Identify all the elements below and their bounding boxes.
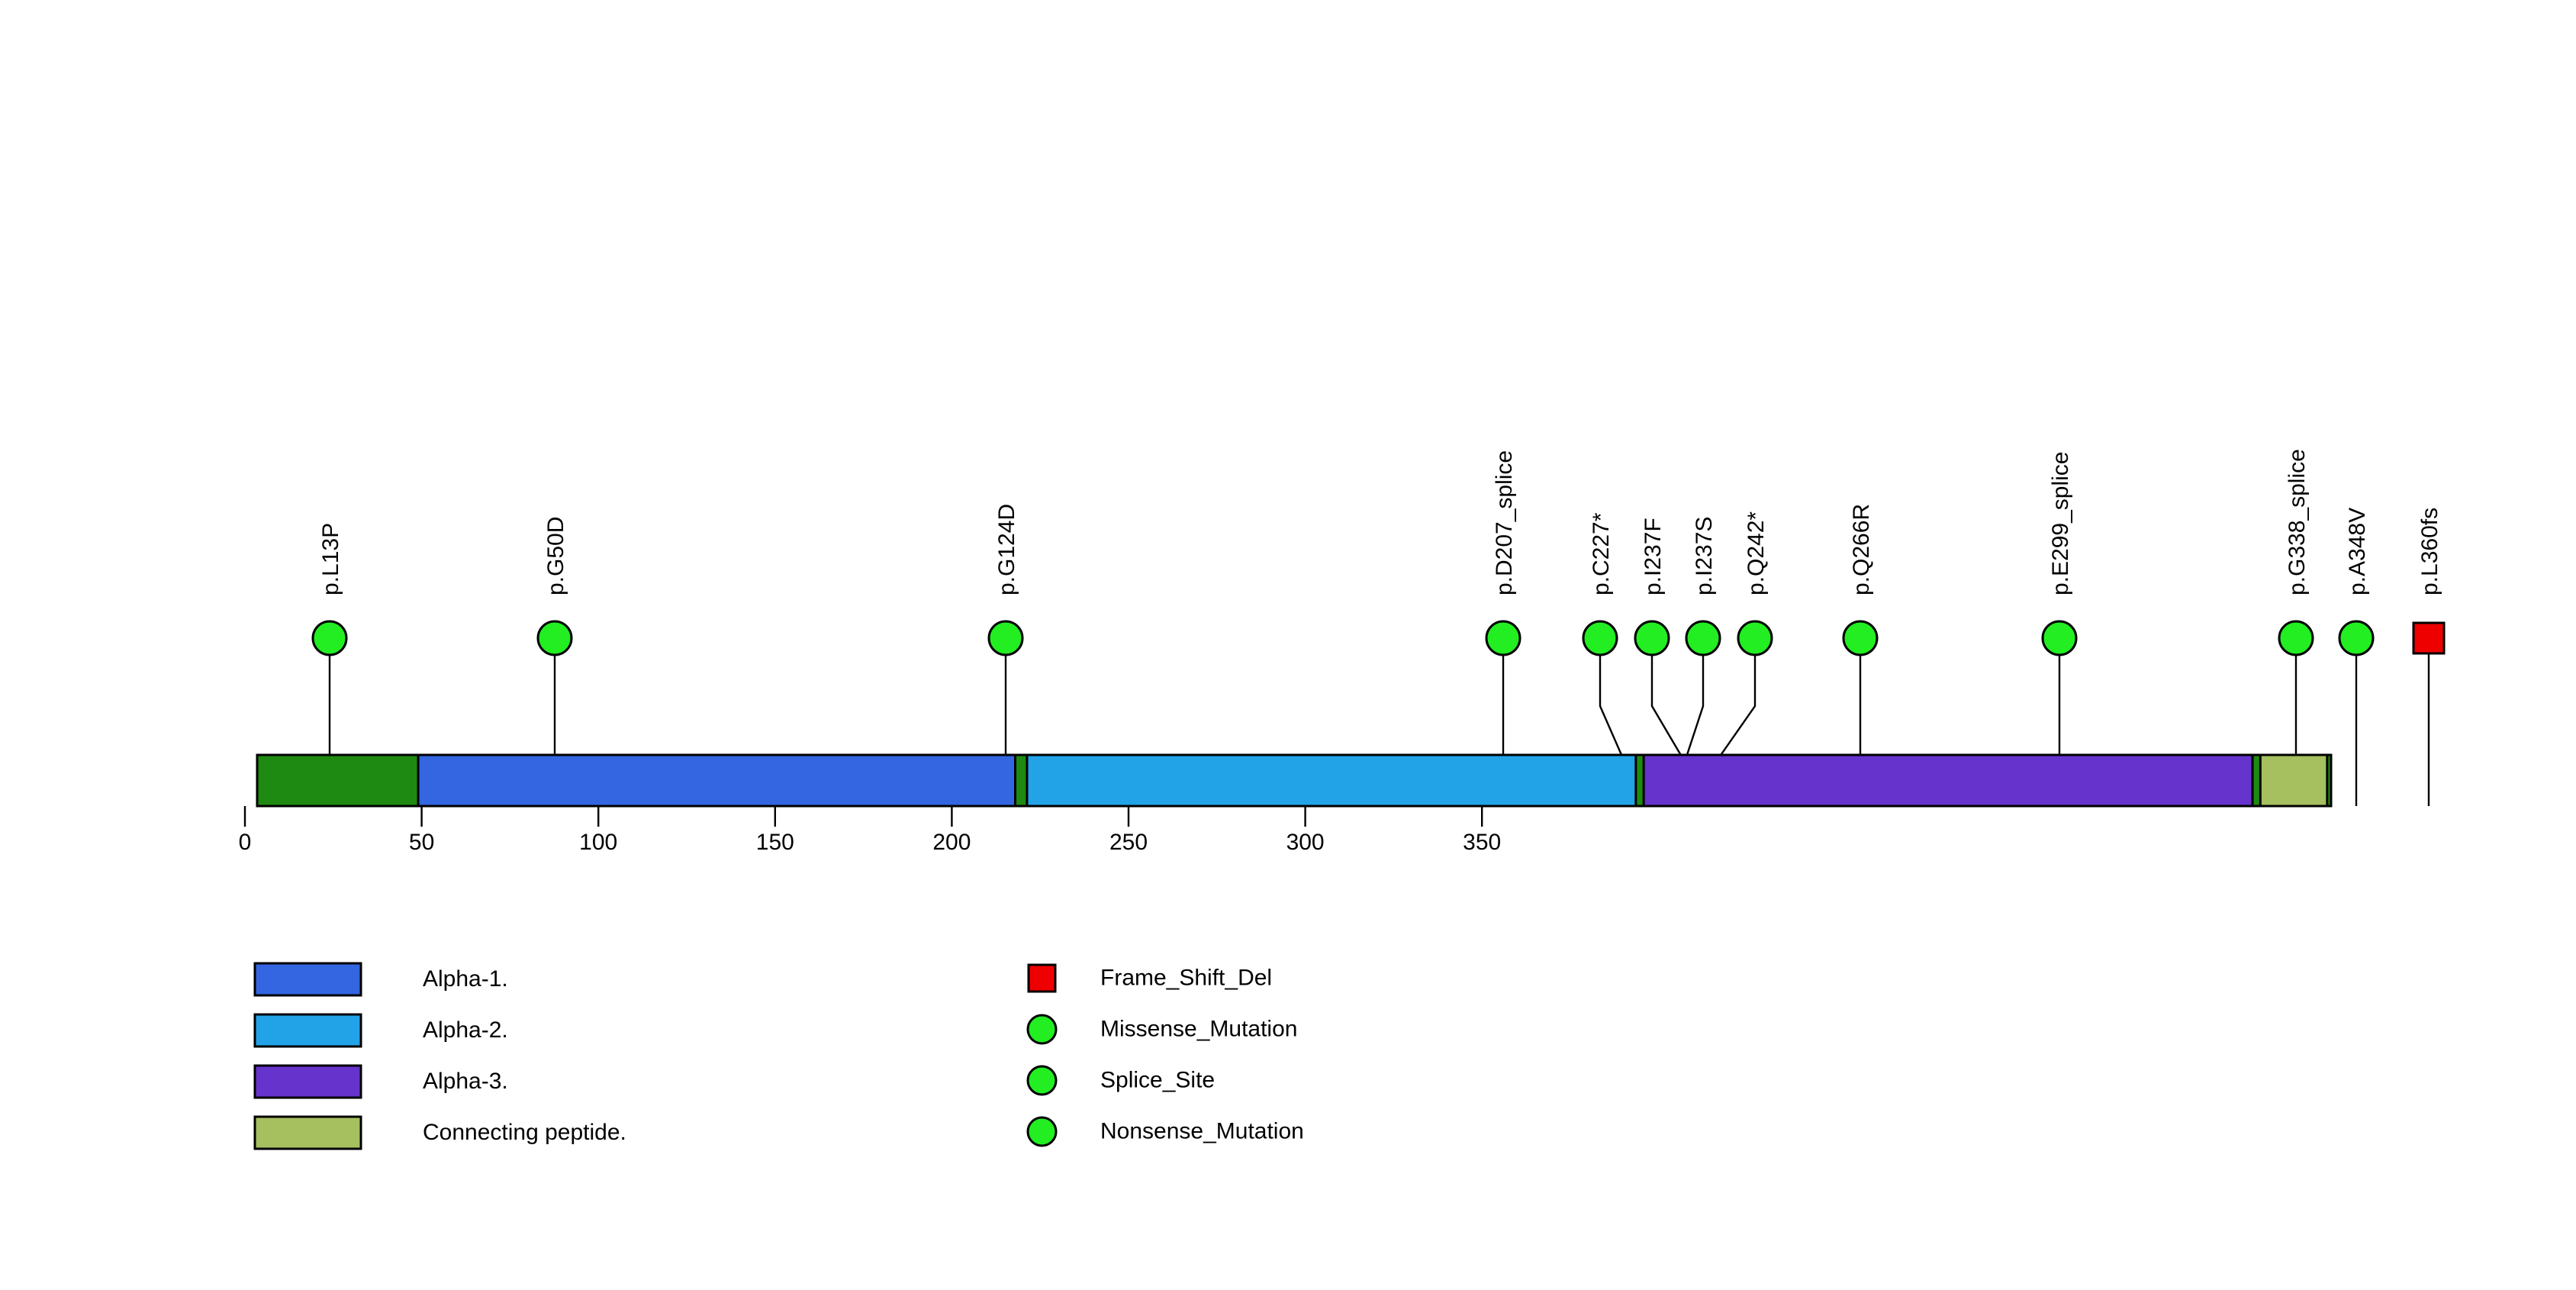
mutation-marker-pQ266R[interactable]: p.Q266R — Missense_Mutation <box>1843 621 1877 655</box>
axis-tick-label-300: 300 <box>1286 830 1325 855</box>
legend-domain-swatch-2[interactable] <box>255 1066 361 1098</box>
mutation-label-pG124D: p.G124D <box>994 504 1019 595</box>
mutation-marker-pA348V[interactable]: p.A348V — Missense_Mutation <box>2339 621 2373 655</box>
legend-domain-swatch-1[interactable] <box>255 1014 361 1047</box>
mutation-marker-pG338_splice[interactable]: p.G338_splice — Splice_Site <box>2279 621 2313 655</box>
legend-domain-label-2: Alpha-3. <box>423 1069 508 1094</box>
domain-rect-connectingpeptide[interactable]: Connecting peptide. <box>2260 755 2327 806</box>
mutation-marker-pE299_splice[interactable]: p.E299_splice — Splice_Site <box>2043 621 2076 655</box>
mutation-marker-pD207_splice[interactable]: p.D207_splice — Splice_Site <box>1486 621 1520 655</box>
domain-rect-alpha-3[interactable]: Alpha-3. <box>1644 755 2252 806</box>
legend-domain-label-1: Alpha-2. <box>423 1017 508 1043</box>
legend-mutation-label-2: Splice_Site <box>1100 1067 1215 1092</box>
legend-domains-group: Alpha-1.Alpha-2.Alpha-3.Connecting pepti… <box>255 963 626 1149</box>
mutation-label-pE299_splice: p.E299_splice <box>2048 452 2073 595</box>
legend-mutation-swatch-2[interactable] <box>1028 1066 1056 1095</box>
mutation-marker-pQ242[interactable]: p.Q242* — Nonsense_Mutation <box>1738 621 1772 655</box>
axis-group: 050100150200250300350 <box>239 806 1502 855</box>
axis-tick-label-0: 0 <box>239 830 252 855</box>
mutation-label-pD207_splice: p.D207_splice <box>1492 450 1517 595</box>
domain-rect-alpha-2[interactable]: Alpha-2. <box>1027 755 1636 806</box>
mutation-labels-group: p.L13Pp.G50Dp.G124Dp.D207_splicep.C227*p… <box>318 449 2442 595</box>
mutation-label-pL360fs: p.L360fs <box>2417 508 2442 595</box>
axis-tick-label-50: 50 <box>409 830 434 855</box>
mutation-heads-group: p.L13P — Missense_Mutationp.G50D — Misse… <box>313 621 2444 655</box>
axis-tick-label-250: 250 <box>1109 830 1148 855</box>
mutation-marker-pG50D[interactable]: p.G50D — Missense_Mutation <box>538 621 572 655</box>
mutation-label-pI237S: p.I237S <box>1692 517 1717 595</box>
domain-rects-group: Alpha-1.Alpha-2.Alpha-3.Connecting pepti… <box>418 755 2327 806</box>
domain-rect-alpha-1[interactable]: Alpha-1. <box>418 755 1015 806</box>
axis-tick-label-350: 350 <box>1463 830 1501 855</box>
legend-mutation-swatch-0[interactable] <box>1029 965 1055 992</box>
mutation-marker-pI237S[interactable]: p.I237S — Missense_Mutation <box>1686 621 1720 655</box>
protein-lollipop-svg: Alpha-1.Alpha-2.Alpha-3.Connecting pepti… <box>0 0 2576 1290</box>
mutation-label-pG338_splice: p.G338_splice <box>2285 449 2310 595</box>
mutation-marker-pL360fs[interactable]: p.L360fs — Frame_Shift_Del <box>2413 623 2444 653</box>
legend-domain-label-3: Connecting peptide. <box>423 1120 626 1145</box>
mutation-label-pA348V: p.A348V <box>2345 508 2370 595</box>
mutation-label-pL13P: p.L13P <box>318 523 343 595</box>
mutation-label-pQ242: p.Q242* <box>1744 511 1769 595</box>
mutation-label-pC227: p.C227* <box>1589 512 1614 595</box>
mutation-marker-pL13P[interactable]: p.L13P — Missense_Mutation <box>313 621 346 655</box>
mutation-label-pI237F: p.I237F <box>1641 518 1666 595</box>
axis-tick-label-150: 150 <box>756 830 794 855</box>
axis-tick-label-200: 200 <box>932 830 971 855</box>
mutation-marker-pI237F[interactable]: p.I237F — Missense_Mutation <box>1635 621 1669 655</box>
legend-domain-swatch-0[interactable] <box>255 963 361 995</box>
lollipop-plot-canvas: Alpha-1.Alpha-2.Alpha-3.Connecting pepti… <box>0 0 2576 1290</box>
legend-mutation-label-1: Missense_Mutation <box>1100 1016 1297 1041</box>
axis-tick-label-100: 100 <box>579 830 617 855</box>
mutation-label-pQ266R: p.Q266R <box>1849 504 1874 595</box>
mutation-marker-pC227[interactable]: p.C227* — Nonsense_Mutation <box>1583 621 1617 655</box>
legend-mutation-swatch-3[interactable] <box>1028 1117 1056 1146</box>
mutation-marker-pG124D[interactable]: p.G124D — Missense_Mutation <box>989 621 1022 655</box>
legend-mutations-group: Frame_Shift_DelMissense_MutationSplice_S… <box>1028 965 1304 1146</box>
legend-domain-label-0: Alpha-1. <box>423 966 508 992</box>
legend-mutation-label-0: Frame_Shift_Del <box>1100 965 1272 990</box>
legend-domain-swatch-3[interactable] <box>255 1117 361 1149</box>
legend-mutation-label-3: Nonsense_Mutation <box>1100 1118 1304 1143</box>
legend-mutation-swatch-1[interactable] <box>1028 1015 1056 1043</box>
mutation-label-pG50D: p.G50D <box>543 517 568 595</box>
